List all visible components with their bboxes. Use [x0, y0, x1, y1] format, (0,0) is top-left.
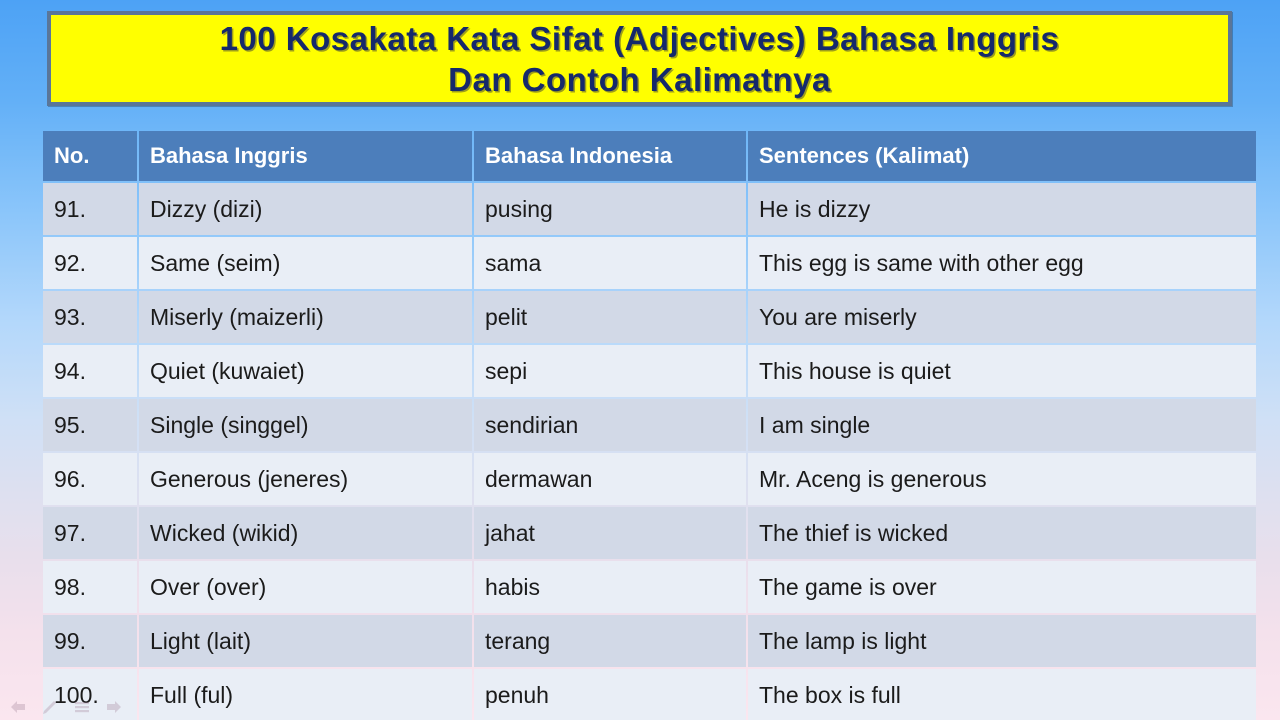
table-cell-no: 92. — [43, 237, 137, 289]
table-cell-sent: This egg is same with other egg — [748, 237, 1256, 289]
table-cell-no: 98. — [43, 561, 137, 613]
table-row: 99.Light (lait)terangThe lamp is light — [43, 615, 1256, 667]
table-cell-no: 95. — [43, 399, 137, 451]
table-cell-ind: dermawan — [474, 453, 746, 505]
table-cell-ind: terang — [474, 615, 746, 667]
table-header-row: No. Bahasa Inggris Bahasa Indonesia Sent… — [43, 131, 1256, 181]
table-row: 93.Miserly (maizerli)pelitYou are miserl… — [43, 291, 1256, 343]
table-row: 91.Dizzy (dizi)pusingHe is dizzy — [43, 183, 1256, 235]
slide-title-line-1: 100 Kosakata Kata Sifat (Adjectives) Bah… — [220, 18, 1060, 59]
table-cell-no: 96. — [43, 453, 137, 505]
table-cell-eng: Full (ful) — [139, 669, 472, 720]
table-cell-eng: Light (lait) — [139, 615, 472, 667]
column-header-english: Bahasa Inggris — [139, 131, 472, 181]
table-cell-no: 97. — [43, 507, 137, 559]
slide-title-banner: 100 Kosakata Kata Sifat (Adjectives) Bah… — [47, 11, 1232, 106]
table-cell-no: 93. — [43, 291, 137, 343]
table-cell-ind: pelit — [474, 291, 746, 343]
lines-icon[interactable] — [72, 699, 92, 717]
table-cell-no: 99. — [43, 615, 137, 667]
table-cell-ind: penuh — [474, 669, 746, 720]
table-row: 97.Wicked (wikid)jahatThe thief is wicke… — [43, 507, 1256, 559]
table-cell-sent: The box is full — [748, 669, 1256, 720]
table-cell-sent: The game is over — [748, 561, 1256, 613]
table-row: 95.Single (singgel)sendirianI am single — [43, 399, 1256, 451]
column-header-indonesian: Bahasa Indonesia — [474, 131, 746, 181]
table-cell-eng: Single (singgel) — [139, 399, 472, 451]
table-cell-ind: jahat — [474, 507, 746, 559]
table-cell-eng: Generous (jeneres) — [139, 453, 472, 505]
table-cell-eng: Dizzy (dizi) — [139, 183, 472, 235]
column-header-sentences: Sentences (Kalimat) — [748, 131, 1256, 181]
table-cell-eng: Same (seim) — [139, 237, 472, 289]
table-cell-eng: Miserly (maizerli) — [139, 291, 472, 343]
table-cell-eng: Over (over) — [139, 561, 472, 613]
table-cell-sent: You are miserly — [748, 291, 1256, 343]
table-cell-ind: sama — [474, 237, 746, 289]
table-cell-eng: Quiet (kuwaiet) — [139, 345, 472, 397]
table-cell-sent: I am single — [748, 399, 1256, 451]
vocabulary-table: No. Bahasa Inggris Bahasa Indonesia Sent… — [41, 129, 1258, 720]
table-cell-sent: This house is quiet — [748, 345, 1256, 397]
presentation-bottom-toolbar[interactable] — [8, 699, 124, 717]
arrow-left-icon[interactable] — [8, 699, 28, 717]
table-cell-ind: sendirian — [474, 399, 746, 451]
table-row: 98.Over (over)habisThe game is over — [43, 561, 1256, 613]
column-header-no: No. — [43, 131, 137, 181]
table-cell-ind: sepi — [474, 345, 746, 397]
table-row: 94.Quiet (kuwaiet)sepiThis house is quie… — [43, 345, 1256, 397]
table-cell-no: 91. — [43, 183, 137, 235]
table-cell-sent: The thief is wicked — [748, 507, 1256, 559]
table-cell-sent: The lamp is light — [748, 615, 1256, 667]
vocabulary-table-body: 91.Dizzy (dizi)pusingHe is dizzy92.Same … — [43, 183, 1256, 720]
table-row: 100.Full (ful)penuhThe box is full — [43, 669, 1256, 720]
table-row: 96.Generous (jeneres)dermawanMr. Aceng i… — [43, 453, 1256, 505]
arrow-right-icon[interactable] — [104, 699, 124, 717]
table-cell-no: 94. — [43, 345, 137, 397]
table-cell-ind: pusing — [474, 183, 746, 235]
slide-title-line-2: Dan Contoh Kalimatnya — [448, 59, 831, 100]
table-cell-ind: habis — [474, 561, 746, 613]
table-cell-sent: Mr. Aceng is generous — [748, 453, 1256, 505]
table-cell-sent: He is dizzy — [748, 183, 1256, 235]
table-cell-eng: Wicked (wikid) — [139, 507, 472, 559]
table-row: 92.Same (seim)samaThis egg is same with … — [43, 237, 1256, 289]
pencil-icon[interactable] — [40, 699, 60, 717]
